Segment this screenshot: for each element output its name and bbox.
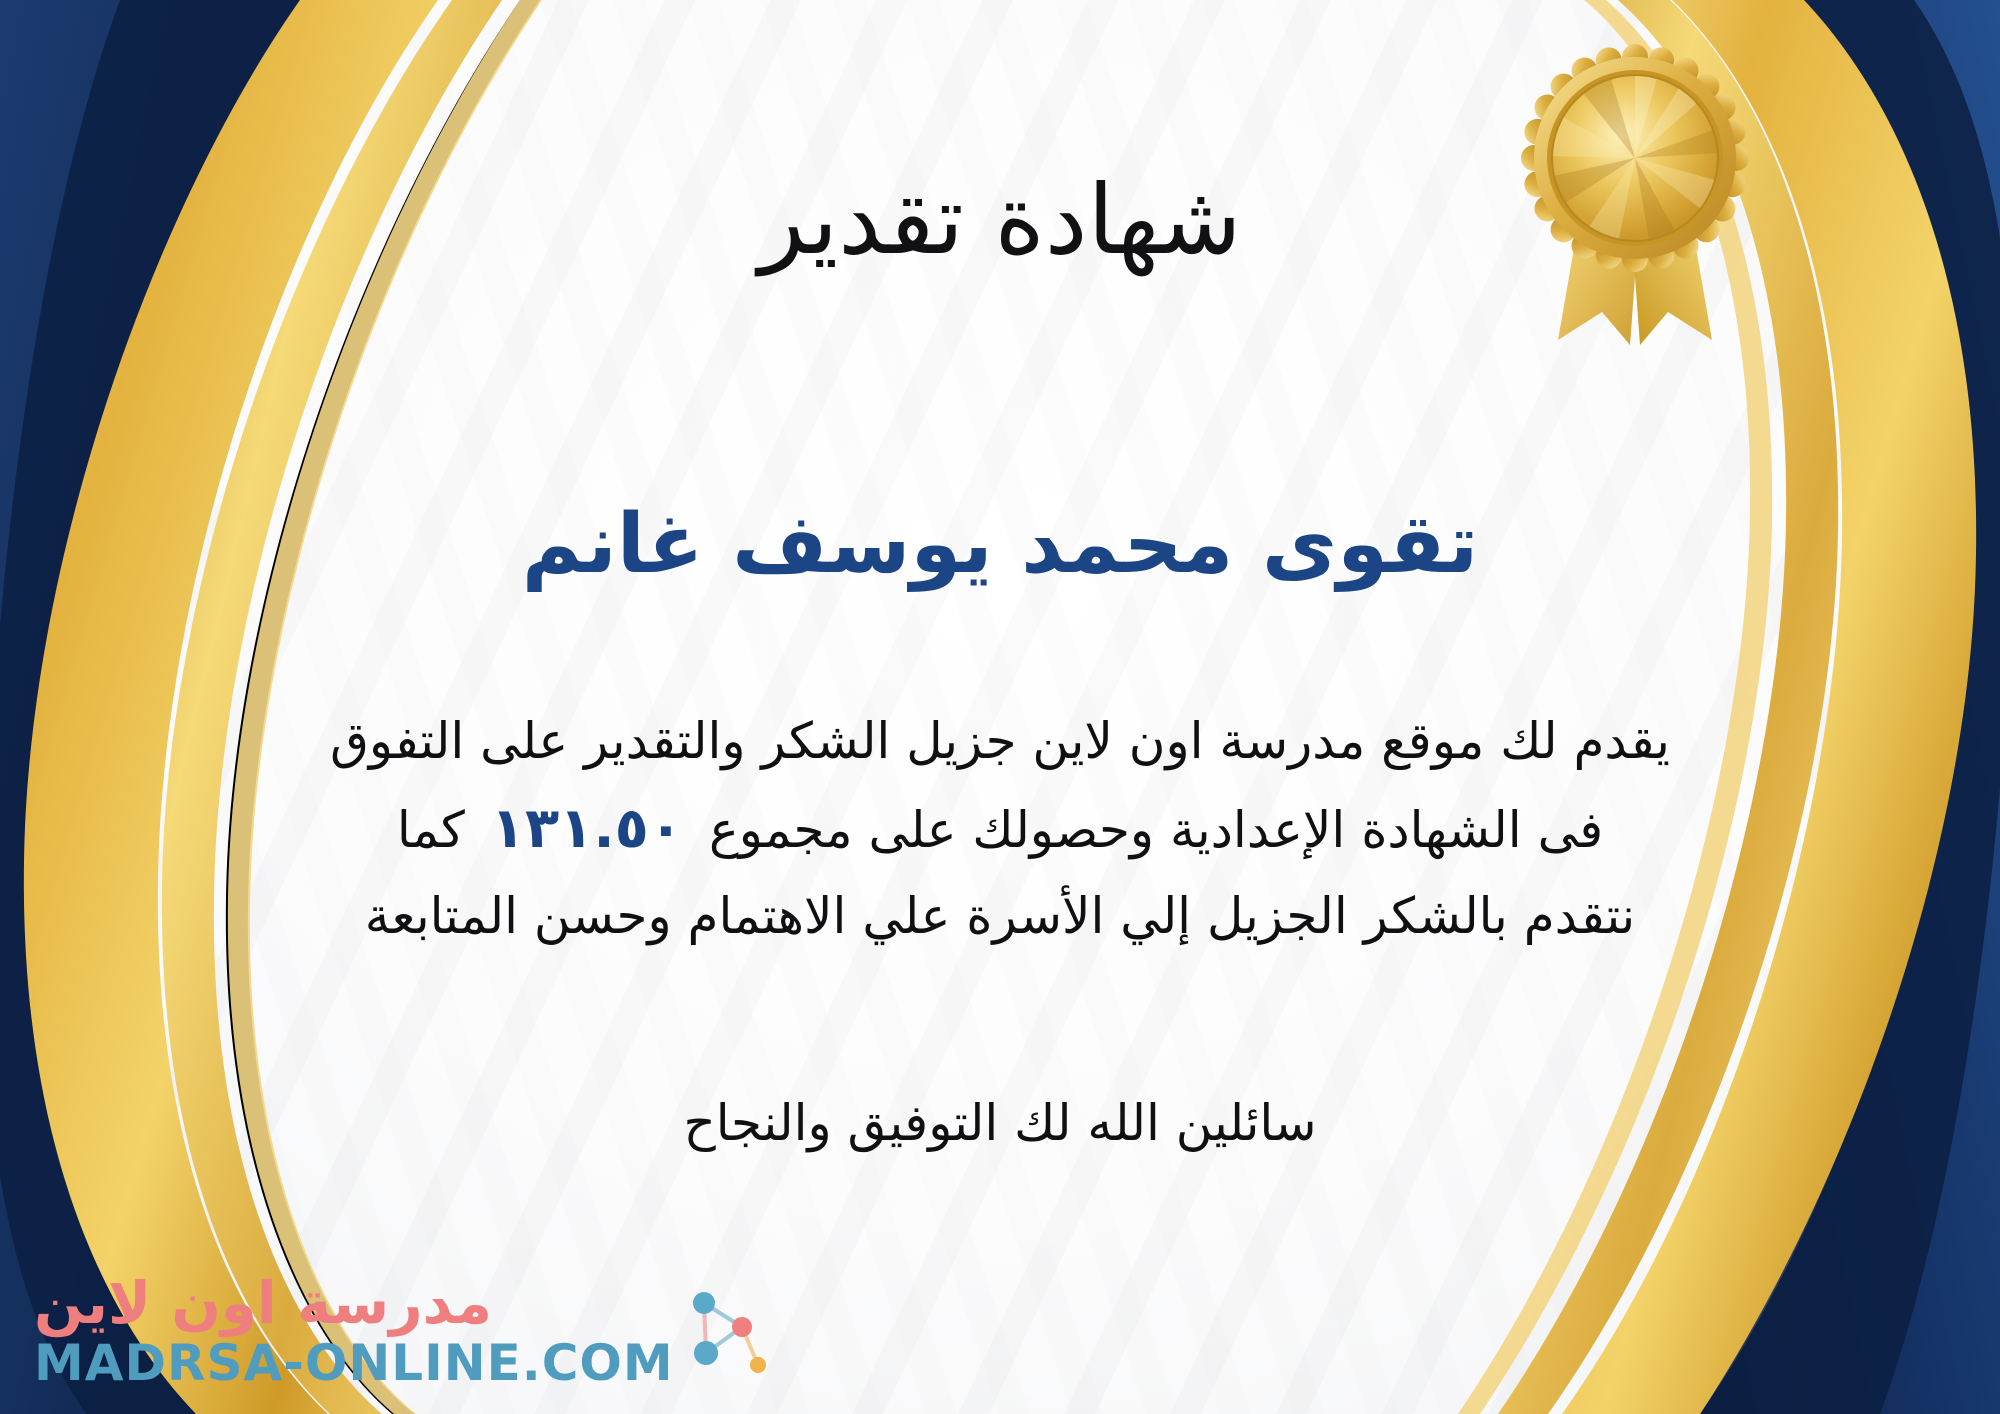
body-line-2-prefix: فى الشهادة الإعدادية وحصولك على مجموع <box>709 801 1603 859</box>
total-score-value: ١٣١.٥٠ <box>465 796 709 861</box>
body-line-3: نتقدم بالشكر الجزيل إلي الأسرة علي الاهت… <box>60 875 1940 958</box>
certificate-page: شهادة تقدير تقوى محمد يوسف غانم يقدم لك … <box>0 0 2000 1414</box>
logo-text: مدرسة اون لاين MADRSA-ONLINE.COM <box>34 1274 674 1388</box>
body-line-1: يقدم لك موقع مدرسة اون لاين جزيل الشكر و… <box>60 700 1940 783</box>
recipient-name: تقوى محمد يوسف غانم <box>0 492 2000 599</box>
body-text: يقدم لك موقع مدرسة اون لاين جزيل الشكر و… <box>60 700 1940 957</box>
body-line-2-suffix: كما <box>397 801 465 859</box>
closing-wish: سائلين الله لك التوفيق والنجاح <box>0 1086 2000 1161</box>
body-line-2: فى الشهادة الإعدادية وحصولك على مجموع١٣١… <box>60 783 1940 875</box>
network-nodes-icon <box>684 1283 770 1379</box>
gold-medal-seal-icon <box>1510 40 1760 360</box>
site-logo[interactable]: مدرسة اون لاين MADRSA-ONLINE.COM <box>34 1274 770 1388</box>
logo-arabic-name: مدرسة اون لاين <box>34 1274 492 1332</box>
logo-domain: MADRSA-ONLINE.COM <box>34 1338 674 1388</box>
